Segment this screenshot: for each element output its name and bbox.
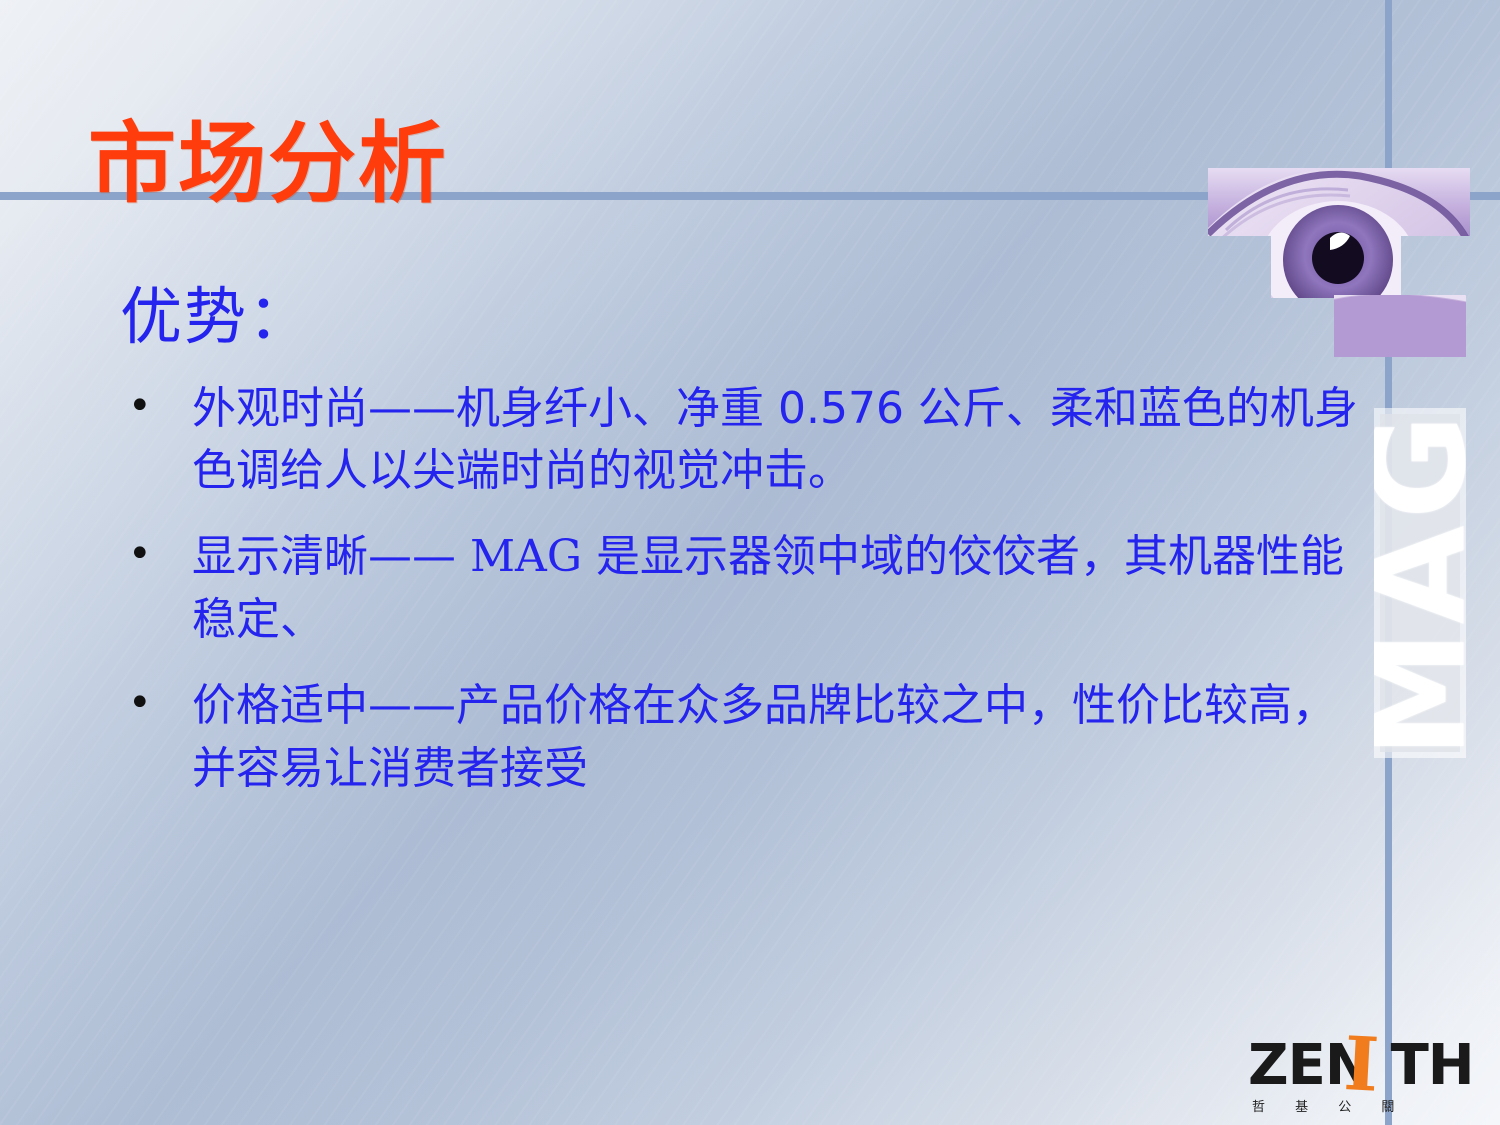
bullet-text-2: 显示清晰—— MAG 是显示器领中域的佼佼者，其机器性能稳定、 (192, 531, 1344, 644)
logo-stylized-i: I (1342, 1027, 1380, 1103)
bullet-text-3: 价格适中——产品价格在众多品牌比较之中，性价比较高，并容易让消费者接受 (192, 680, 1336, 793)
slide-body: 优势： 外观时尚——机身纤小、净重 0.576 公斤、柔和蓝色的机身色调给人以尖… (120, 278, 1370, 824)
mag-watermark-text: MAG (1374, 408, 1466, 758)
list-item: 价格适中——产品价格在众多品牌比较之中，性价比较高，并容易让消费者接受 (120, 675, 1370, 800)
list-item: 外观时尚——机身纤小、净重 0.576 公斤、柔和蓝色的机身色调给人以尖端时尚的… (120, 378, 1370, 503)
logo-chinese-subtitle: 哲 基 公 關 (1252, 1096, 1407, 1115)
zenith-logo: ZENITH I 哲 基 公 關 (1248, 1038, 1488, 1116)
slide-canvas: MAG 市场分析 优势： 外观时尚——机身纤小、净重 0.576 公斤、柔和蓝色… (0, 0, 1500, 1125)
section-subheading: 优势： (120, 278, 1370, 356)
bullet-text-run: MAG (470, 531, 582, 582)
list-item: 显示清晰—— MAG 是显示器领中域的佼佼者，其机器性能稳定、 (120, 526, 1370, 651)
bullet-text-1: 外观时尚——机身纤小、净重 0.576 公斤、柔和蓝色的机身色调给人以尖端时尚的… (192, 383, 1358, 496)
logo-word-right: TH (1391, 1033, 1474, 1098)
bullet-text-run: 外观时尚——机身纤小、净重 0.576 公斤、柔和蓝色的机身色调给人以尖端时尚的… (192, 383, 1358, 496)
slide-title: 市场分析 (88, 116, 448, 211)
bullet-text-run: 显示清晰—— (192, 531, 470, 582)
bullet-list: 外观时尚——机身纤小、净重 0.576 公斤、柔和蓝色的机身色调给人以尖端时尚的… (120, 378, 1370, 801)
mag-watermark: MAG (1374, 408, 1466, 758)
bullet-text-run: 价格适中——产品价格在众多品牌比较之中，性价比较高，并容易让消费者接受 (192, 680, 1336, 793)
eye-photo-slice-top (1208, 168, 1470, 236)
eye-icon (1208, 168, 1470, 236)
